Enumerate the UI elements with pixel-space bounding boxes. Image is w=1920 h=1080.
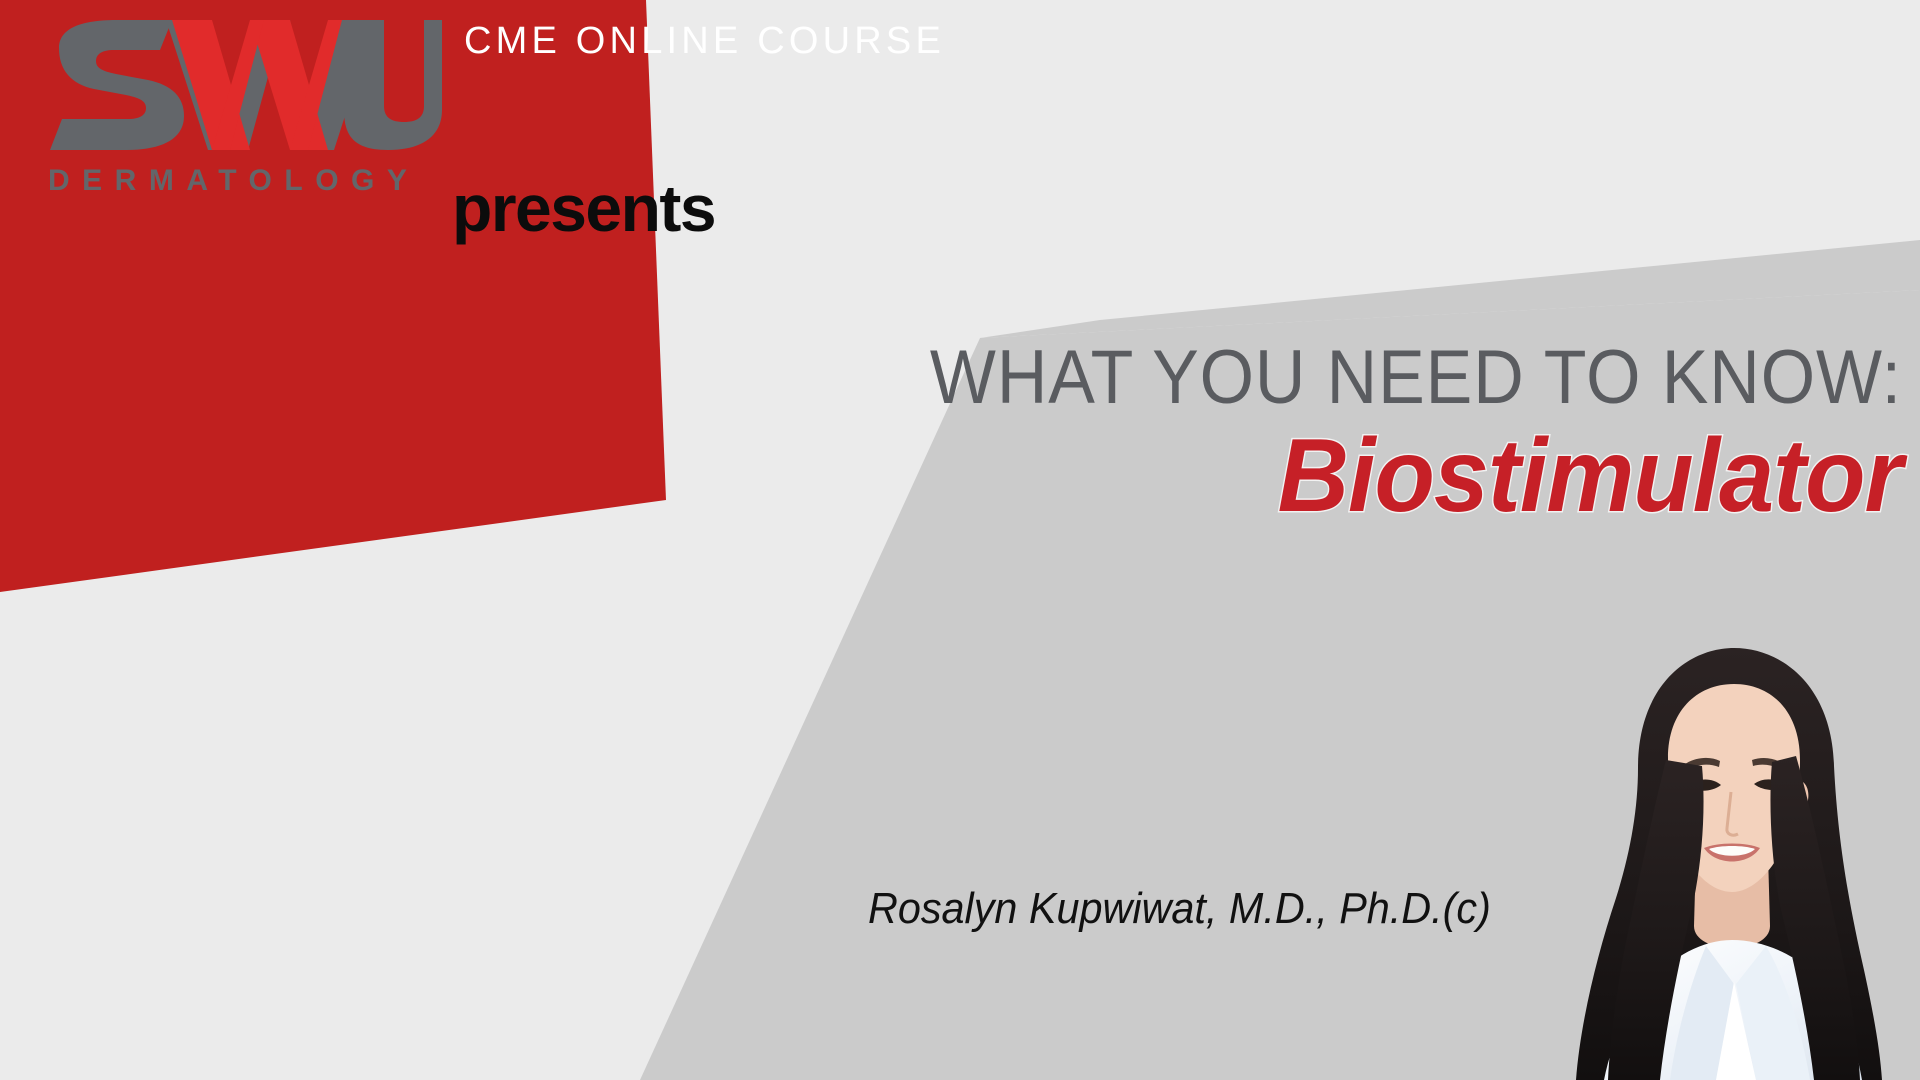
swu-wordmark-icon [44,18,444,153]
headline-topic: Biostimulator [572,424,1902,528]
swu-dermatology-logo: DERMATOLOGY [44,18,464,208]
presents-label: presents [452,170,715,246]
slide-headline: WHAT YOU NEED TO KNOW: Biostimulator [502,340,1902,528]
presentation-slide: DERMATOLOGY CME ONLINE COURSE presents W… [0,0,1920,1080]
logo-letter-s [50,20,184,150]
presenter-name: Rosalyn Kupwiwat, M.D., Ph.D.(c) [868,884,1491,934]
headline-primary: WHAT YOU NEED TO KNOW: [614,340,1902,416]
logo-subtitle: DERMATOLOGY [48,164,419,198]
logo-letter-u [344,20,442,150]
presenter-portrait [1520,640,1920,1080]
course-kicker-label: CME ONLINE COURSE [464,20,945,63]
